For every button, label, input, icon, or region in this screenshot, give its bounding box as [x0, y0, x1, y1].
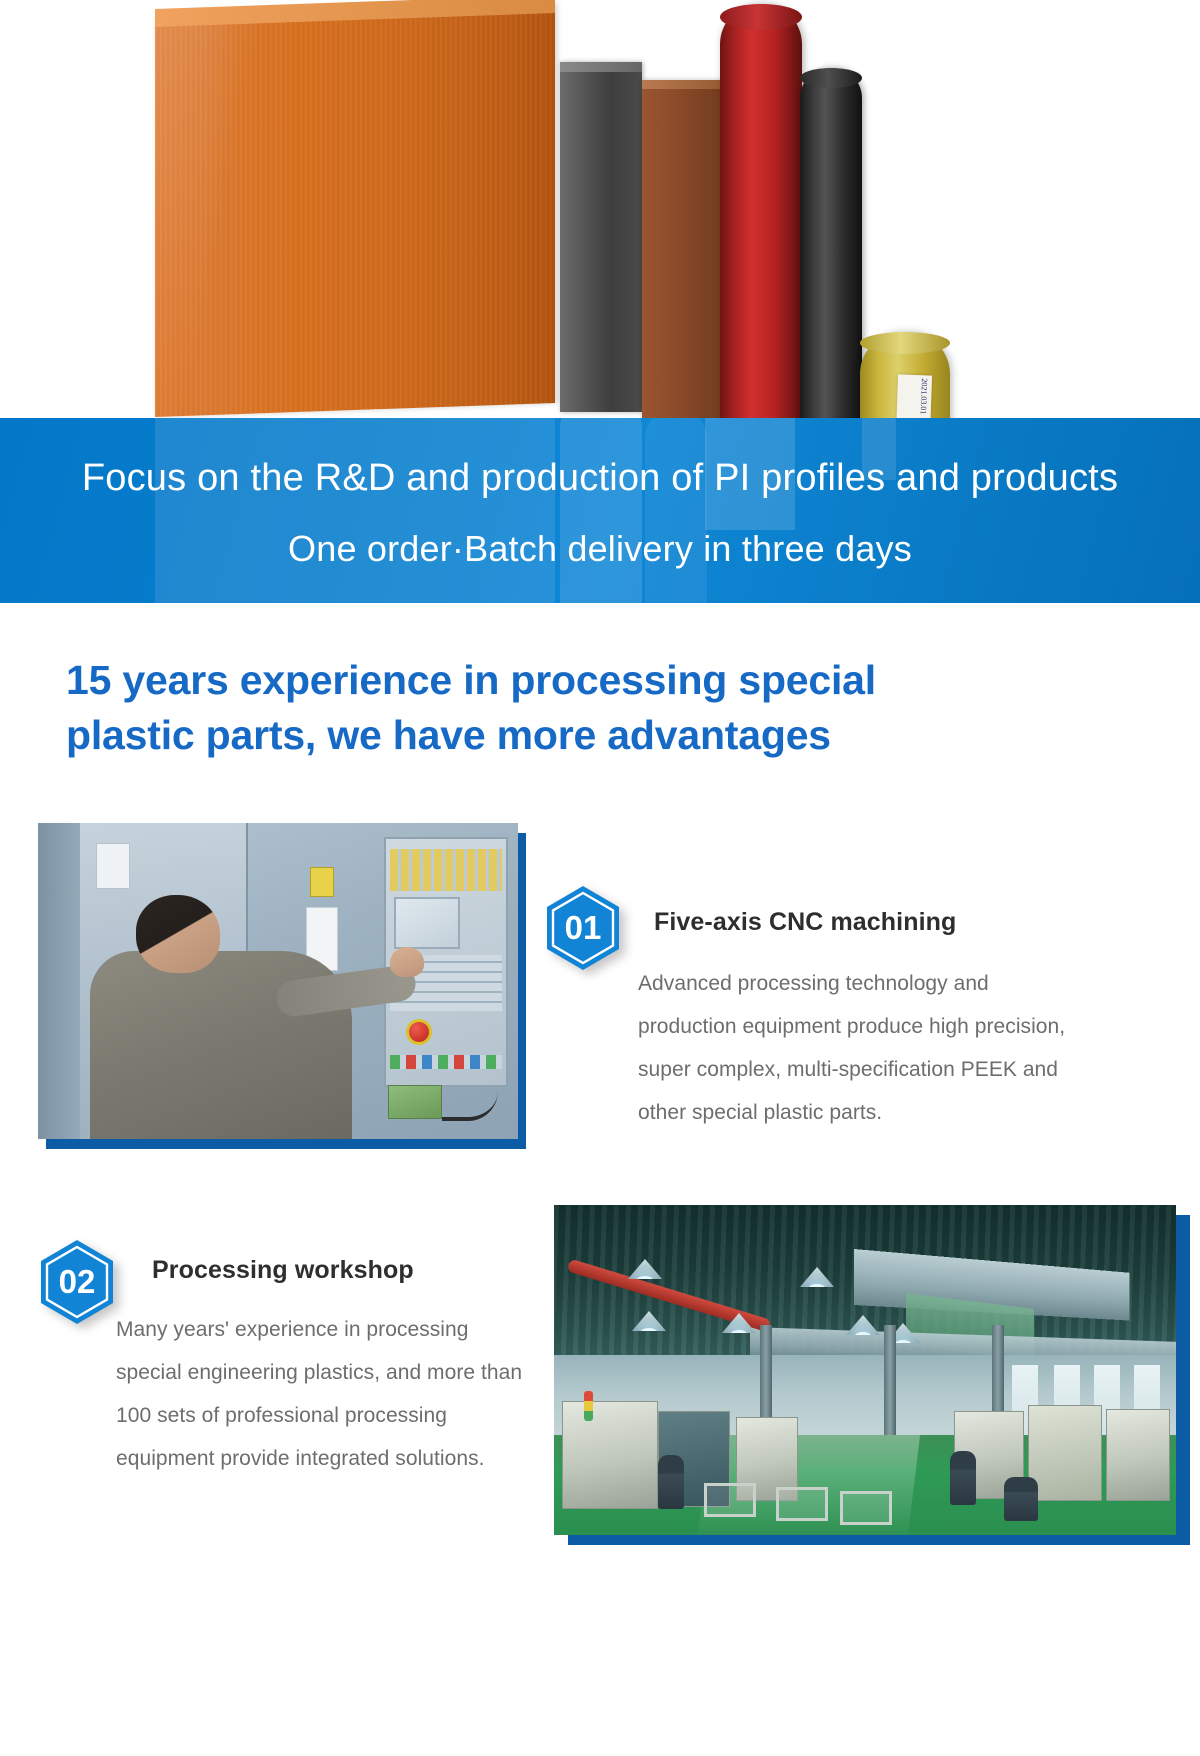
workshop-worker [950, 1451, 976, 1505]
feature-2-title: Processing workshop [152, 1256, 414, 1285]
feature-2-image [554, 1205, 1176, 1535]
workshop-photo [554, 1205, 1176, 1535]
feature-1-description: Advanced processing technology and produ… [638, 962, 1068, 1134]
section-title: 15 years experience in processing specia… [66, 653, 1066, 763]
cnc-display-screen [394, 897, 460, 949]
product-black-rod [800, 68, 862, 430]
hero-product-stage: 2021.03.01 [155, 0, 1000, 430]
worker-hand [390, 947, 424, 977]
banner-ghost-shape-3 [645, 418, 707, 603]
feature-2-number-badge: 02 [38, 1238, 116, 1326]
cnc-green-module [388, 1085, 442, 1119]
banner-headline-secondary: One order·Batch delivery in three days [0, 528, 1200, 570]
product-red-rod-cap [720, 4, 802, 30]
banner-ghost-shape-1 [155, 418, 555, 603]
workshop-material-cart [776, 1487, 828, 1521]
workshop-material-cart [840, 1491, 892, 1525]
workshop-machine [562, 1401, 658, 1509]
cnc-emergency-stop-button [406, 1019, 432, 1045]
feature-1-number-badge: 01 [544, 884, 622, 972]
cnc-button-row [390, 1055, 502, 1069]
banner-ghost-shape-2 [560, 418, 642, 603]
cnc-keypad-upper [390, 849, 502, 891]
product-red-rod [720, 4, 802, 430]
feature-1-image [38, 823, 518, 1139]
workshop-material-cart [704, 1483, 756, 1517]
banner-headline-primary: Focus on the R&D and production of PI pr… [0, 456, 1200, 500]
cnc-cable [442, 1091, 498, 1121]
product-black-rod-cap [800, 68, 862, 88]
product-orange-phenolic-board [155, 3, 555, 417]
cnc-paper-sheet [96, 843, 130, 889]
hero-banner: Focus on the R&D and production of PI pr… [0, 418, 1200, 603]
product-dark-grey-sheet [560, 62, 642, 412]
workshop-machine [1106, 1409, 1170, 1501]
product-marketing-page: 2021.03.01 Focus on the R&D and producti… [0, 0, 1200, 1756]
feature-2-description: Many years' experience in processing spe… [116, 1308, 526, 1480]
cnc-cabinet-left [38, 823, 80, 1139]
hero-product-image: 2021.03.01 [0, 0, 1200, 430]
feature-1-title: Five-axis CNC machining [654, 908, 956, 937]
product-gold-rod-cap [860, 332, 950, 354]
cnc-machine-photo [38, 823, 518, 1139]
feature-2-number-text: 02 [59, 1263, 96, 1300]
cnc-yellow-sticker [310, 867, 334, 897]
workshop-machine [1028, 1405, 1102, 1501]
feature-1-number-text: 01 [565, 909, 602, 946]
workshop-worker [1004, 1477, 1038, 1521]
workshop-worker [658, 1455, 684, 1509]
section-title-line-1: 15 years experience in processing specia… [66, 653, 1066, 708]
product-grey-sheet-top-edge [560, 62, 642, 72]
worker-head [136, 895, 220, 973]
section-title-line-2: plastic parts, we have more advantages [66, 708, 1066, 763]
workshop-signal-tower [584, 1391, 593, 1421]
